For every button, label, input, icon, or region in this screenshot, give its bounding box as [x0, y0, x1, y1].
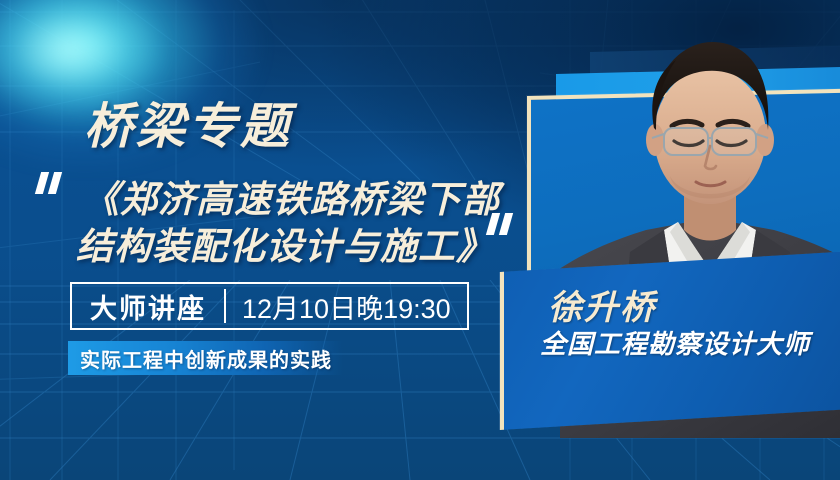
speaker-name: 徐升桥	[548, 291, 840, 325]
lecture-title-line2: 结构装配化设计与施工》	[76, 223, 500, 270]
tagline-banner: 实际工程中创新成果的实践	[68, 341, 343, 375]
tagline-text: 实际工程中创新成果的实践	[68, 344, 332, 373]
lecture-title-line1: 《郑济高速铁路桥梁下部	[82, 176, 500, 223]
lecture-title: 《郑济高速铁路桥梁下部 结构装配化设计与施工》	[82, 176, 500, 271]
lecture-datetime: 12月10日晚19:30	[226, 284, 467, 328]
speaker-title: 全国工程勘察设计大师	[540, 331, 840, 357]
series-title: 桥梁专题	[84, 100, 292, 155]
lecture-category-label: 大师讲座	[72, 284, 224, 328]
quote-close-icon	[489, 213, 515, 235]
lecture-info-box: 大师讲座 12月10日晚19:30	[70, 282, 469, 330]
lecture-poster: 徐升桥 全国工程勘察设计大师 桥梁专题 《郑济高速铁路桥梁下部 结构装配化设计与…	[0, 0, 840, 480]
speaker-name-panel: 徐升桥 全国工程勘察设计大师	[500, 250, 840, 430]
quote-open-icon	[38, 172, 64, 194]
